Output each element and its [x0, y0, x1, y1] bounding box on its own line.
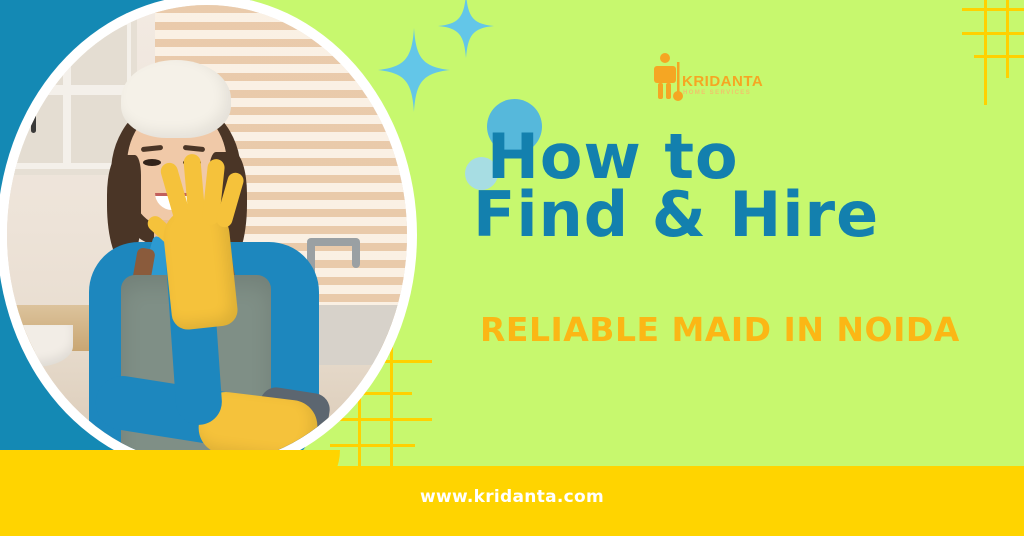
maid-figure	[59, 60, 359, 465]
logo-name: KRIDANTA	[682, 74, 763, 89]
brand-logo[interactable]: KRIDANTA HOME SERVICES	[648, 52, 760, 104]
photo-panel	[0, 0, 420, 500]
page-subtitle: RELIABLE MAID IN NOIDA	[480, 310, 980, 349]
decorative-grid-top-right	[962, 0, 1024, 105]
worker-with-mop-icon	[648, 52, 684, 104]
photo-ring	[2, 0, 412, 470]
maid-photo	[7, 5, 407, 465]
headline-line-2: Find & Hire	[473, 186, 957, 244]
logo-tagline: HOME SERVICES	[683, 90, 751, 96]
page-title: How to Find & Hire	[487, 128, 957, 245]
promo-banner: KRIDANTA HOME SERVICES How to Find & Hir…	[0, 0, 1024, 536]
website-url[interactable]: www.kridanta.com	[0, 487, 1024, 507]
